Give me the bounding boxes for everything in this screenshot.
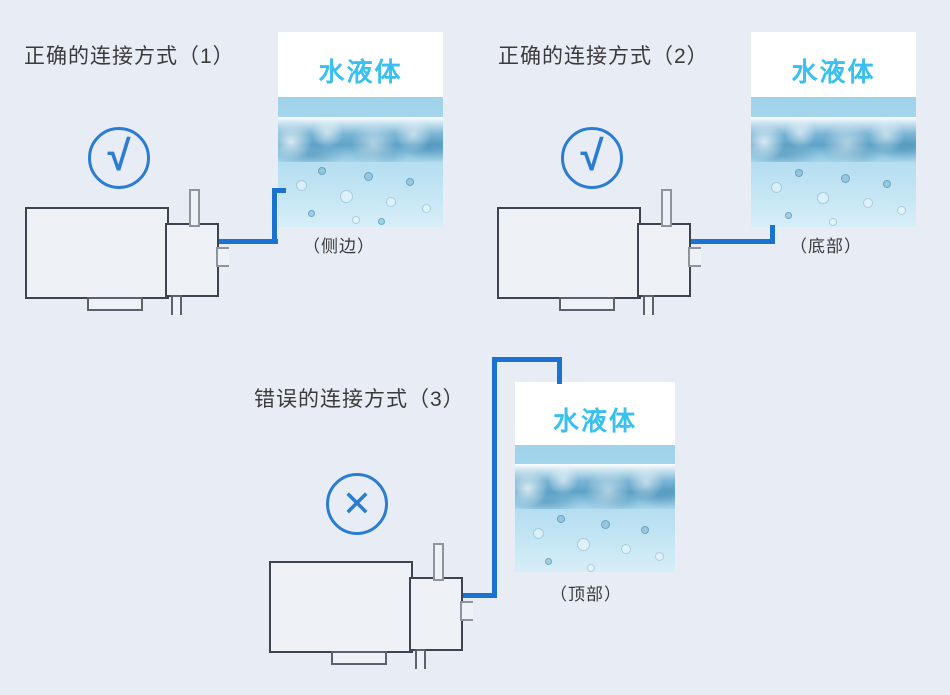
bubble — [364, 172, 373, 181]
bubble — [406, 178, 414, 186]
motor-body — [498, 208, 640, 298]
pump-outlet-flange — [689, 248, 701, 266]
bubble — [587, 564, 595, 572]
bubble — [296, 180, 307, 191]
pump-outlet-flange — [217, 248, 229, 266]
bubble — [621, 544, 631, 554]
pump-head — [166, 224, 218, 296]
bubble — [863, 198, 873, 208]
pump-outlet-flange — [461, 602, 473, 620]
pipe-vertical-riser-to-tank-bottom — [770, 225, 775, 244]
tank-caption: （底部） — [790, 232, 862, 257]
tank-caption: （顶部） — [550, 580, 622, 605]
pipe-horizontal-outlet — [688, 239, 775, 244]
bubble — [817, 192, 829, 204]
panel-wrong-3: 错误的连接方式（3） ✕ 水液体 （顶部） — [238, 345, 718, 695]
bubble — [577, 538, 590, 551]
bubble — [386, 197, 396, 207]
bubble — [352, 216, 360, 224]
bubble — [785, 212, 792, 219]
bubble — [533, 528, 544, 539]
motor-foot — [332, 652, 386, 664]
panel-correct-1: 正确的连接方式（1） √ 水液体 （侧边） — [0, 0, 470, 330]
motor-body — [26, 208, 168, 298]
water-tank: 水液体 — [278, 32, 443, 227]
tank-water-surface — [515, 464, 675, 509]
bubble — [655, 552, 664, 561]
motor-foot — [88, 298, 142, 310]
pump-leg — [172, 296, 181, 315]
panel-title: 正确的连接方式（1） — [24, 40, 235, 70]
motor-foot — [560, 298, 614, 310]
pump-motor-assembly — [258, 534, 473, 669]
pump-motor-assembly — [486, 180, 701, 315]
bubble — [557, 515, 565, 523]
tank-water-surface — [751, 117, 916, 162]
bubble — [641, 526, 649, 534]
tank-label: 水液体 — [751, 52, 916, 89]
pump-leg — [644, 296, 653, 315]
panel-correct-2: 正确的连接方式（2） √ 水液体 （底部） — [476, 0, 950, 330]
bubble — [883, 180, 891, 188]
pump-head — [638, 224, 690, 296]
bubble — [795, 169, 803, 177]
bubble — [378, 218, 385, 225]
panel-title: 正确的连接方式（2） — [498, 40, 709, 70]
bubble — [308, 210, 315, 217]
pump-head — [410, 578, 462, 650]
check-mark-icon: √ — [564, 128, 620, 184]
pipe-downspout-into-tank-top — [557, 357, 562, 384]
tank-label: 水液体 — [515, 401, 675, 438]
bubble — [545, 558, 552, 565]
bubble — [897, 206, 906, 215]
status-badge-wrong: ✕ — [326, 473, 388, 535]
pump-vent-stub — [434, 544, 443, 580]
cross-mark-icon: ✕ — [329, 476, 385, 532]
check-mark-icon: √ — [91, 128, 147, 184]
tank-water-surface — [278, 117, 443, 162]
pump-leg — [416, 650, 425, 669]
pump-vent-stub — [662, 190, 671, 226]
diagram-canvas: 正确的连接方式（1） √ 水液体 （侧边） — [0, 0, 950, 695]
bubble — [318, 167, 326, 175]
panel-title: 错误的连接方式（3） — [254, 383, 465, 413]
motor-body — [270, 562, 412, 652]
tank-label: 水液体 — [278, 52, 443, 89]
bubble — [771, 182, 782, 193]
bubble — [601, 520, 610, 529]
bubble — [422, 204, 431, 213]
pipe-horizontal-top-run — [492, 357, 562, 362]
water-tank: 水液体 — [751, 32, 916, 227]
tank-caption: （侧边） — [303, 232, 375, 257]
pipe-vertical-riser — [272, 188, 277, 244]
pipe-inlet-to-tank-side — [272, 188, 286, 193]
water-tank: 水液体 — [515, 382, 675, 572]
bubble — [829, 218, 837, 226]
bubble — [340, 190, 353, 203]
pump-motor-assembly — [14, 180, 229, 315]
bubble — [841, 174, 850, 183]
pump-vent-stub — [190, 190, 199, 226]
pipe-vertical-riser — [492, 357, 497, 598]
